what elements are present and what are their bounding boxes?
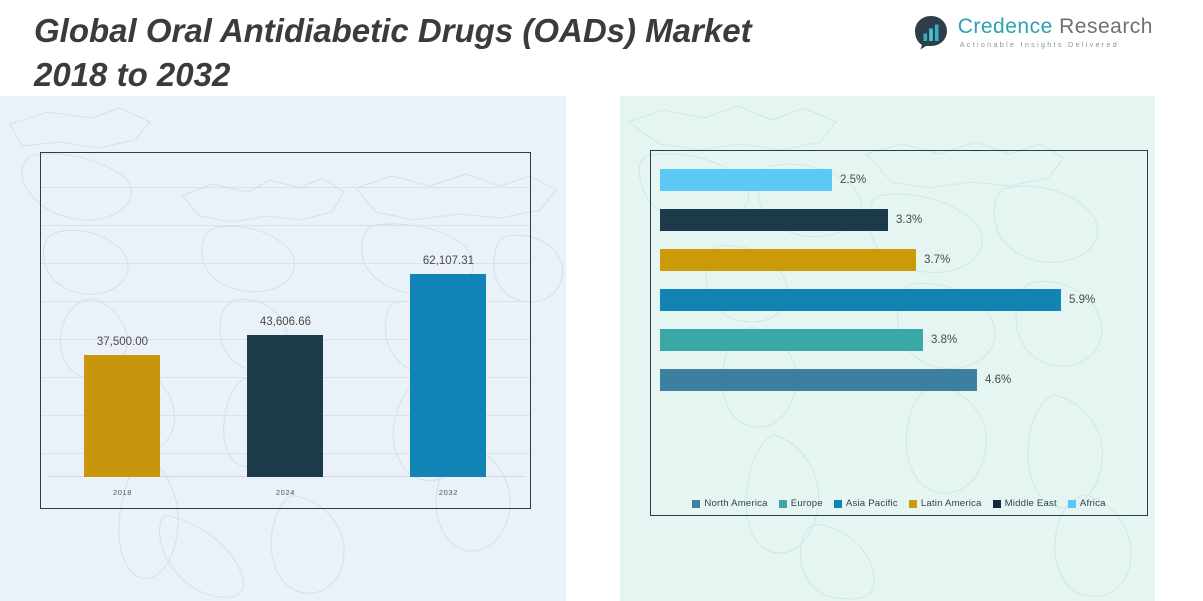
legend-label-europe: Europe bbox=[791, 498, 823, 509]
bar-row-europe: 3.8% bbox=[660, 329, 1147, 351]
legend-swatch-middle-east bbox=[993, 500, 1001, 508]
bar-value-middle-east: 3.3% bbox=[896, 214, 922, 226]
bar-europe[interactable] bbox=[660, 329, 923, 351]
credence-research-logo[interactable]: Credence Research Actionable Insights De… bbox=[913, 14, 1153, 50]
page-title-line2: 2018 to 2032 bbox=[34, 53, 934, 97]
bar-2024[interactable] bbox=[247, 335, 323, 477]
bar-group-2032: 62,107.31 2032 bbox=[367, 153, 530, 508]
category-label-2018: 2018 bbox=[113, 477, 132, 508]
legend-label-africa: Africa bbox=[1080, 498, 1106, 509]
bar-row-asia-pacific: 5.9% bbox=[660, 289, 1147, 311]
bar-value-2018: 37,500.00 bbox=[97, 336, 148, 348]
bar-value-latin-america: 3.7% bbox=[924, 254, 950, 266]
bar-row-latin-america: 3.7% bbox=[660, 249, 1147, 271]
legend-label-north-america: North America bbox=[704, 498, 767, 509]
cagr-chart-legend: North America Europe Asia Pacific Latin … bbox=[651, 498, 1147, 509]
cagr-by-region-bar-chart: 2.5% 3.3% 3.7% 5.9% 3.8% 4.6% North Amer… bbox=[650, 150, 1148, 516]
bar-africa[interactable] bbox=[660, 169, 832, 191]
bar-middle-east[interactable] bbox=[660, 209, 888, 231]
page-title-line1: Global Oral Antidiabetic Drugs (OADs) Ma… bbox=[34, 12, 752, 49]
bar-value-2024: 43,606.66 bbox=[260, 316, 311, 328]
market-size-bar-chart: 37,500.00 2018 43,606.66 2024 62,107.31 … bbox=[40, 152, 531, 509]
legend-swatch-north-america bbox=[692, 500, 700, 508]
legend-item-europe[interactable]: Europe bbox=[779, 498, 823, 509]
bar-value-africa: 2.5% bbox=[840, 174, 866, 186]
legend-label-latin-america: Latin America bbox=[921, 498, 982, 509]
bar-2032[interactable] bbox=[410, 274, 486, 477]
legend-item-asia-pacific[interactable]: Asia Pacific bbox=[834, 498, 898, 509]
infographic-page: Global Oral Antidiabetic Drugs (OADs) Ma… bbox=[0, 0, 1203, 601]
bar-value-north-america: 4.6% bbox=[985, 374, 1011, 386]
header-bar: Global Oral Antidiabetic Drugs (OADs) Ma… bbox=[0, 0, 1203, 96]
legend-swatch-latin-america bbox=[909, 500, 917, 508]
logo-tagline: Actionable Insights Delivered bbox=[960, 41, 1153, 48]
bar-row-north-america: 4.6% bbox=[660, 369, 1147, 391]
legend-item-middle-east[interactable]: Middle East bbox=[993, 498, 1057, 509]
logo-brand-name-part2: Research bbox=[1059, 15, 1153, 38]
category-label-2032: 2032 bbox=[439, 477, 458, 508]
bar-group-2018: 37,500.00 2018 bbox=[41, 153, 204, 508]
bar-chart-bubble-icon bbox=[913, 14, 949, 50]
left-chart-plot-area: 37,500.00 2018 43,606.66 2024 62,107.31 … bbox=[41, 153, 530, 508]
bar-north-america[interactable] bbox=[660, 369, 977, 391]
panel-right-margin bbox=[1155, 96, 1203, 601]
bar-value-europe: 3.8% bbox=[931, 334, 957, 346]
bar-value-2032: 62,107.31 bbox=[423, 255, 474, 267]
legend-item-africa[interactable]: Africa bbox=[1068, 498, 1106, 509]
bar-group-2024: 43,606.66 2024 bbox=[204, 153, 367, 508]
bar-2018[interactable] bbox=[84, 355, 160, 477]
legend-swatch-asia-pacific bbox=[834, 500, 842, 508]
bar-row-middle-east: 3.3% bbox=[660, 209, 1147, 231]
legend-label-asia-pacific: Asia Pacific bbox=[846, 498, 898, 509]
logo-text-block: Credence Research Actionable Insights De… bbox=[958, 16, 1153, 48]
logo-brand-name-part1: Credence bbox=[958, 15, 1053, 38]
bar-row-africa: 2.5% bbox=[660, 169, 1147, 191]
logo-brand-name: Credence Research bbox=[958, 16, 1153, 37]
legend-swatch-africa bbox=[1068, 500, 1076, 508]
legend-item-latin-america[interactable]: Latin America bbox=[909, 498, 982, 509]
bar-asia-pacific[interactable] bbox=[660, 289, 1061, 311]
category-label-2024: 2024 bbox=[276, 477, 295, 508]
legend-swatch-europe bbox=[779, 500, 787, 508]
legend-label-middle-east: Middle East bbox=[1005, 498, 1057, 509]
bar-value-asia-pacific: 5.9% bbox=[1069, 294, 1095, 306]
legend-item-north-america[interactable]: North America bbox=[692, 498, 767, 509]
bar-latin-america[interactable] bbox=[660, 249, 916, 271]
page-title: Global Oral Antidiabetic Drugs (OADs) Ma… bbox=[34, 9, 934, 97]
panel-divider-gap bbox=[566, 96, 620, 601]
